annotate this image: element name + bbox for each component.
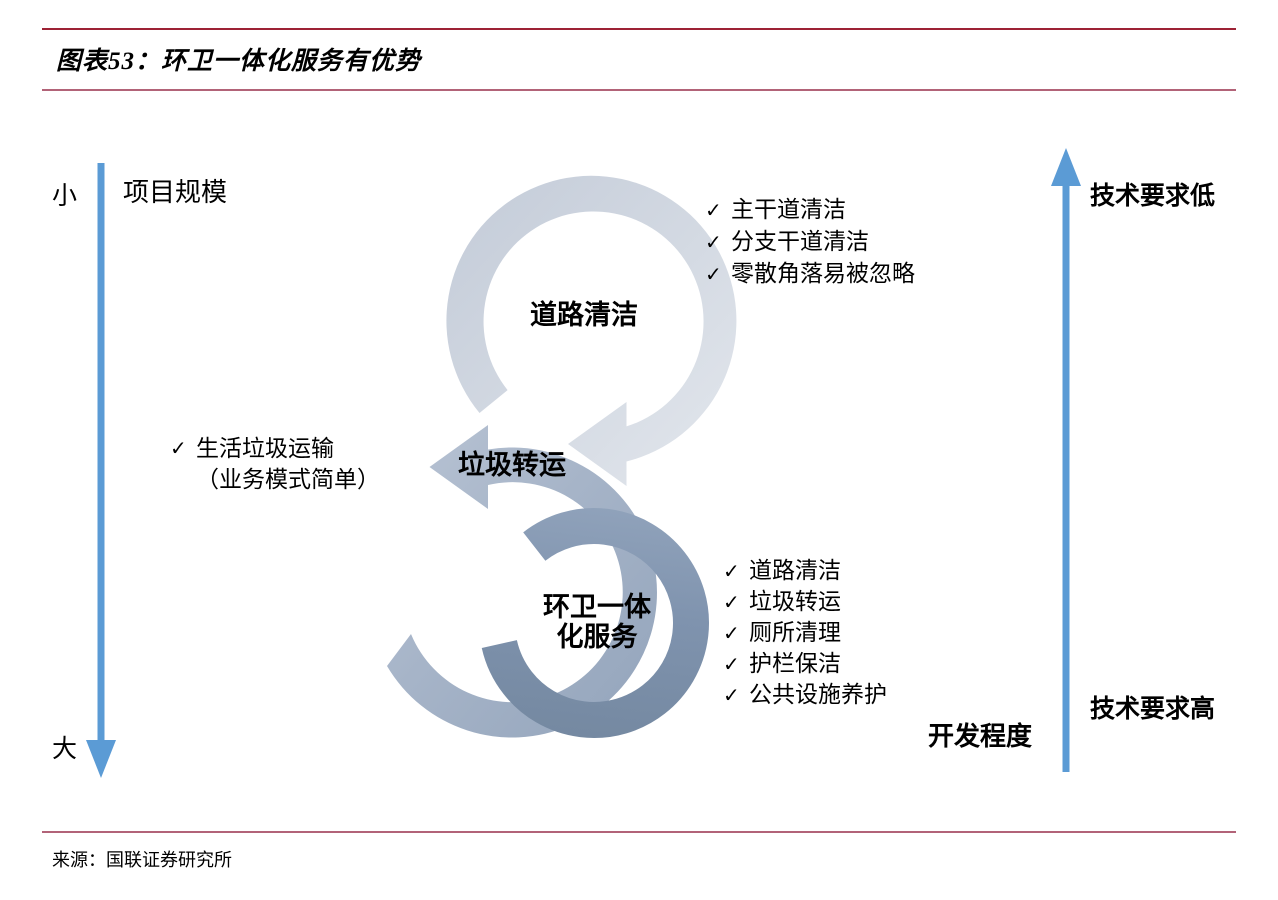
right-axis-arrow bbox=[1051, 148, 1081, 772]
check-icon: ✓ bbox=[723, 556, 749, 586]
ring-road-cleaning bbox=[446, 176, 736, 486]
list-item-label: 护栏保洁 bbox=[749, 649, 841, 679]
ring-label-road-cleaning: 道路清洁 bbox=[530, 300, 638, 330]
list-item-label: 道路清洁 bbox=[749, 556, 841, 586]
ring-label-waste-transfer: 垃圾转运 bbox=[458, 450, 566, 480]
axis-label-tech-low: 技术要求低 bbox=[1090, 176, 1215, 212]
axis-label-tech-high: 技术要求高 bbox=[1090, 689, 1215, 725]
axis-label-development-degree: 开发程度 bbox=[928, 716, 1032, 753]
ring-label-integrated-service: 环卫一体 化服务 bbox=[527, 592, 667, 652]
title-rule-top bbox=[42, 28, 1236, 30]
list-item: ✓ 主干道清洁 bbox=[705, 195, 915, 225]
figure-page: 图表53：环卫一体化服务有优势 小 大 项目规模 技术要求低 技术要求高 开发程… bbox=[0, 0, 1278, 900]
list-item: ✓ 垃圾转运 bbox=[723, 587, 887, 617]
page-title: 图表53：环卫一体化服务有优势 bbox=[56, 41, 421, 77]
source-text: 来源：国联证券研究所 bbox=[52, 846, 232, 872]
check-icon: ✓ bbox=[705, 227, 731, 257]
list-item-label: 分支干道清洁 bbox=[731, 227, 869, 257]
list-item: ✓ 分支干道清洁 bbox=[705, 227, 915, 257]
list-item-label: 公共设施养护 bbox=[749, 680, 887, 710]
checklist-bottom-right: ✓ 道路清洁 ✓ 垃圾转运 ✓ 厕所清理 ✓ 护栏保洁 ✓ 公共设施养护 bbox=[723, 556, 887, 711]
checklist-top-right: ✓ 主干道清洁 ✓ 分支干道清洁 ✓ 零散角落易被忽略 bbox=[705, 195, 915, 291]
list-item: ✓ 厕所清理 bbox=[723, 618, 887, 648]
list-item-label: 生活垃圾运输 （业务模式简单） bbox=[196, 433, 380, 495]
axis-label-small: 小 bbox=[52, 176, 77, 212]
check-icon: ✓ bbox=[723, 680, 749, 710]
left-axis-arrow bbox=[86, 163, 116, 778]
list-item: ✓ 公共设施养护 bbox=[723, 680, 887, 710]
checklist-left: ✓ 生活垃圾运输 （业务模式简单） bbox=[170, 433, 380, 497]
list-item-label: 厕所清理 bbox=[749, 618, 841, 648]
check-icon: ✓ bbox=[705, 195, 731, 225]
ring-integrated-service bbox=[406, 304, 730, 759]
list-item-label: 零散角落易被忽略 bbox=[731, 259, 915, 289]
check-icon: ✓ bbox=[723, 587, 749, 617]
title-rule-bottom bbox=[42, 89, 1236, 91]
list-item-label: 垃圾转运 bbox=[749, 587, 841, 617]
list-item: ✓ 护栏保洁 bbox=[723, 649, 887, 679]
list-item: ✓ 零散角落易被忽略 bbox=[705, 259, 915, 289]
check-icon: ✓ bbox=[705, 259, 731, 289]
check-icon: ✓ bbox=[723, 649, 749, 679]
list-item: ✓ 生活垃圾运输 （业务模式简单） bbox=[170, 433, 380, 495]
axis-label-project-scale: 项目规模 bbox=[123, 172, 227, 209]
check-icon: ✓ bbox=[723, 618, 749, 648]
list-item-label: 主干道清洁 bbox=[731, 195, 846, 225]
source-rule bbox=[42, 831, 1236, 833]
list-item: ✓ 道路清洁 bbox=[723, 556, 887, 586]
check-icon: ✓ bbox=[170, 433, 196, 463]
axis-label-large: 大 bbox=[52, 729, 77, 765]
